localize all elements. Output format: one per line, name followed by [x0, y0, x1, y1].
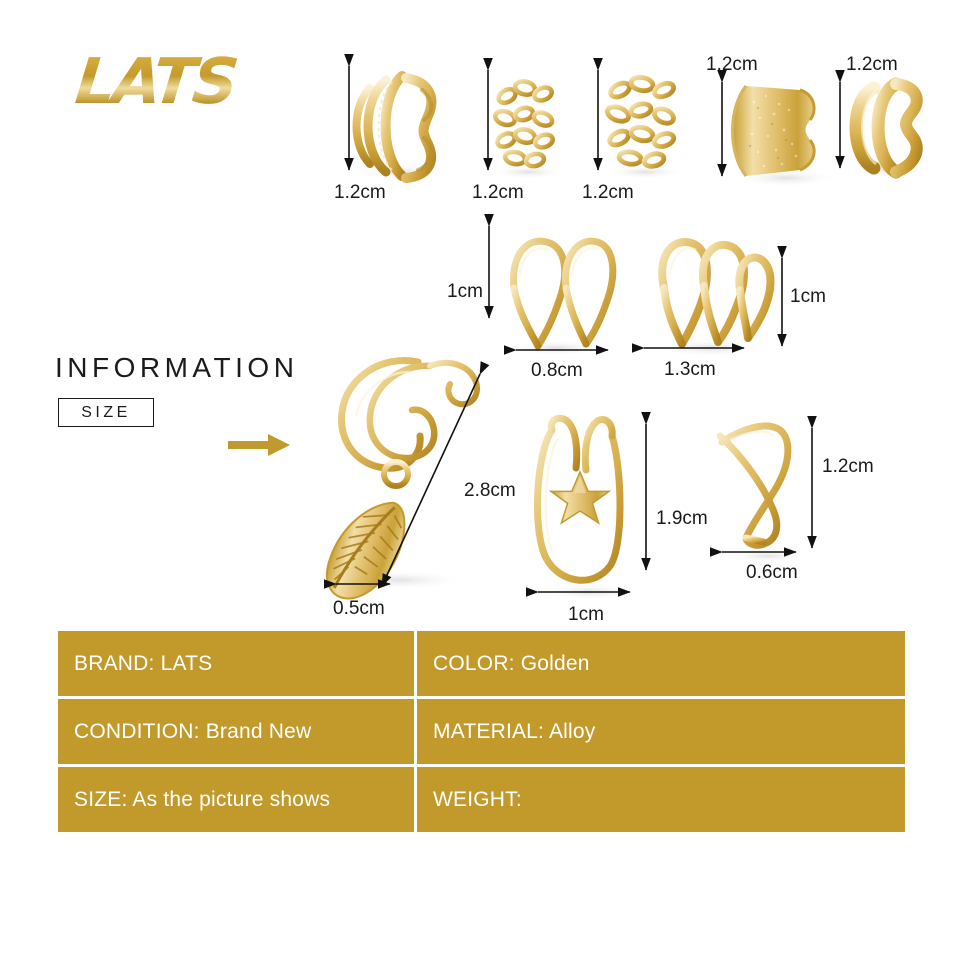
spec-cell-material: MATERIAL: Alloy — [417, 699, 905, 764]
spec-cell-brand: BRAND: LATS — [58, 631, 414, 696]
dimension-item10-width: 0.6cm — [746, 562, 798, 583]
spec-cell-size: SIZE: As the picture shows — [58, 767, 414, 832]
dimension-item7-height: 1cm — [790, 286, 826, 307]
dimension-item1-height: 1.2cm — [334, 182, 386, 203]
dimension-item7-width: 1.3cm — [664, 359, 716, 380]
dimension-item10-height: 1.2cm — [822, 456, 874, 477]
dimension-item5-height: 1.2cm — [846, 54, 898, 75]
dimension-item4-height: 1.2cm — [706, 54, 758, 75]
dimension-item2-height: 1.2cm — [472, 182, 524, 203]
dimension-item9-height: 1.9cm — [656, 508, 708, 529]
spec-table: BRAND: LATS COLOR: Golden CONDITION: Bra… — [58, 631, 902, 832]
spec-cell-color: COLOR: Golden — [417, 631, 905, 696]
product-stage: 1.2cm 1.2cm — [0, 0, 960, 640]
spec-cell-condition: CONDITION: Brand New — [58, 699, 414, 764]
spec-cell-weight: WEIGHT: — [417, 767, 905, 832]
dimension-item9-width: 1cm — [568, 604, 604, 625]
dimension-item6-width: 0.8cm — [531, 360, 583, 381]
dimension-item8-length: 2.8cm — [464, 480, 516, 501]
dimension-item8-width: 0.5cm — [333, 598, 385, 619]
dimension-item6-height: 1cm — [447, 281, 483, 302]
product-illustrations: 1.2cm 1.2cm — [0, 0, 960, 640]
dimension-item3-height: 1.2cm — [582, 182, 634, 203]
product-infographic: LATS INFORMATION SIZE — [0, 0, 960, 960]
